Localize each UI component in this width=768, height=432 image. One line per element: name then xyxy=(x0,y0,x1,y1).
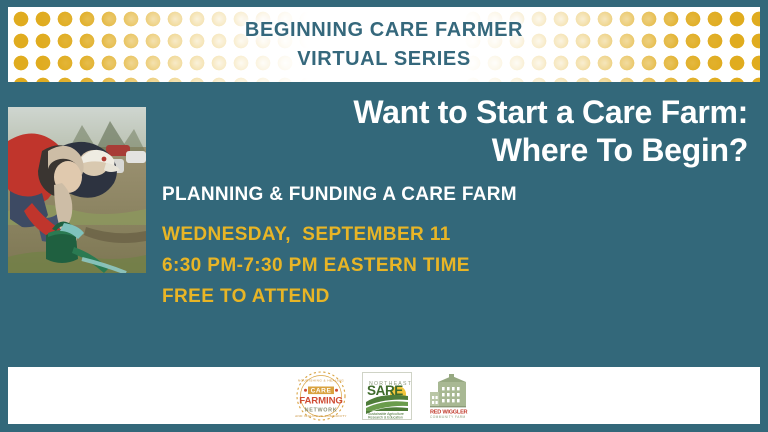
northeast-sare-logo: NORTHEAST SARE Sustainable Agriculture R… xyxy=(362,372,412,420)
title-line-1: Want to Start a Care Farm: xyxy=(156,94,748,132)
event-cost: FREE TO ATTEND xyxy=(162,282,756,313)
main-content: Want to Start a Care Farm: Where To Begi… xyxy=(156,94,756,313)
event-details: WEDNESDAY, SEPTEMBER 11 6:30 PM-7:30 PM … xyxy=(162,220,756,312)
header-line-1: BEGINNING CARE FARMER xyxy=(245,17,523,43)
svg-text:NETWORK: NETWORK xyxy=(305,407,338,413)
svg-text:CARE: CARE xyxy=(311,387,332,394)
svg-text:SARE: SARE xyxy=(367,383,403,398)
event-photo xyxy=(8,107,146,273)
page-title: Want to Start a Care Farm: Where To Begi… xyxy=(156,94,748,170)
header-line-2: VIRTUAL SERIES xyxy=(297,46,471,72)
red-wiggler-community-farm-logo: RED WIGGLER COMMUNITY FARM xyxy=(422,372,478,420)
header-banner: BEGINNING CARE FARMER VIRTUAL SERIES xyxy=(8,7,760,82)
svg-text:AND INCLUSIVE COMMUNITY: AND INCLUSIVE COMMUNITY xyxy=(295,414,347,418)
care-farming-network-logo: NOURISHING & HEALING AND INCLUSIVE COMMU… xyxy=(290,370,352,422)
svg-text:Research & Education: Research & Education xyxy=(368,415,403,419)
header-title-group: BEGINNING CARE FARMER VIRTUAL SERIES xyxy=(8,7,760,82)
svg-text:FARMING: FARMING xyxy=(299,395,343,406)
footer-logo-bar: NOURISHING & HEALING AND INCLUSIVE COMMU… xyxy=(8,367,760,424)
event-date: WEDNESDAY, SEPTEMBER 11 xyxy=(162,220,756,251)
event-flyer: BEGINNING CARE FARMER VIRTUAL SERIES xyxy=(0,0,768,432)
svg-text:NOURISHING & HEALING: NOURISHING & HEALING xyxy=(298,378,344,382)
svg-text:COMMUNITY FARM: COMMUNITY FARM xyxy=(430,415,466,419)
event-time: 6:30 PM-7:30 PM EASTERN TIME xyxy=(162,251,756,282)
title-line-2: Where To Begin? xyxy=(156,132,748,170)
subtitle: PLANNING & FUNDING A CARE FARM xyxy=(162,184,756,207)
